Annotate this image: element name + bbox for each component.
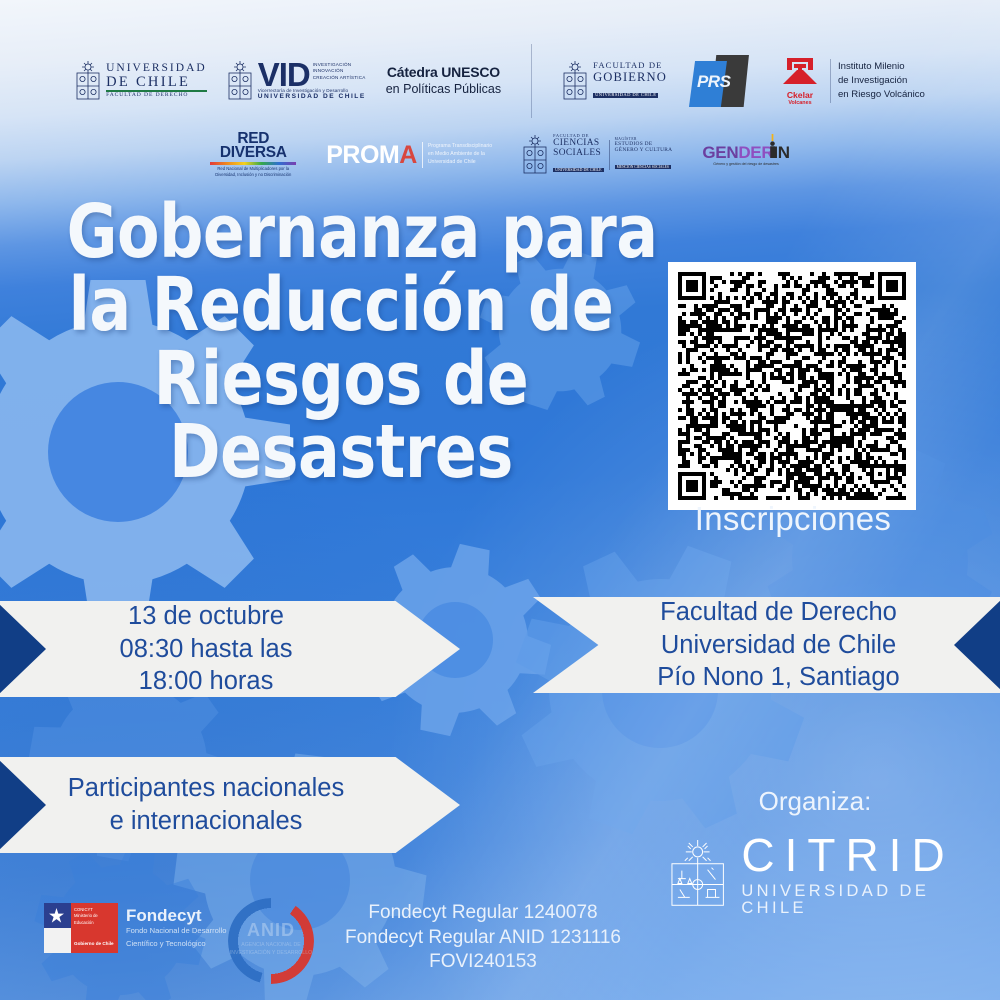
anid-ring-icon — [228, 898, 314, 984]
vid-side-text: INVESTIGACIÓN INNOVACIÓN CREACIÓN ARTÍST… — [313, 62, 366, 82]
person-icon — [769, 134, 776, 162]
proma-wordmark: PROMA — [326, 144, 417, 167]
proma-word-b: A — [399, 141, 417, 169]
fondecyt-text: Fondecyt Fondo Nacional de Desarrollo Ci… — [126, 907, 226, 949]
sponsor-logo-bar: UNIVERSIDAD DE CHILE FACULTAD DE DERECHO — [0, 0, 1000, 178]
fondecyt-sub-2: Científico y Tecnológico — [126, 939, 226, 949]
flag-gov-text: Gobierno de Chile — [74, 941, 114, 946]
csoc-right-text: MAGÍSTER ESTUDIOS DE GÉNERO Y CULTURA ME… — [615, 137, 673, 173]
anid-sub-1: AGENCIA NACIONAL DE — [228, 942, 314, 950]
ribbon-venue-line-2: Universidad de Chile — [657, 629, 899, 662]
organiza-label: Organiza: — [690, 786, 940, 817]
fondecyt-name: Fondecyt — [126, 907, 226, 924]
logo-genderin: GENDERIN Género y gestión del riesgo de … — [702, 144, 789, 166]
csoc-right-2: GÉNERO Y CULTURA — [615, 147, 673, 153]
logo-vid-uchile: VID INVESTIGACIÓN INNOVACIÓN CREACIÓN AR… — [227, 61, 366, 101]
qr-label: Inscripciones — [628, 500, 958, 538]
logo-text: VID INVESTIGACIÓN INNOVACIÓN CREACIÓN AR… — [258, 62, 366, 100]
logo-red-diversa: RED DIVERSA Red Nacional de Multiplicado… — [210, 132, 296, 178]
ckelar-name: Ckelar — [777, 91, 823, 100]
flag-ministry-text: CONICYT Ministerio de Educación — [74, 907, 118, 926]
ribbon-participants-line-2: e internacionales — [68, 805, 344, 838]
logo-universidad-de-chile-derecho: UNIVERSIDAD DE CHILE FACULTAD DE DERECHO — [75, 61, 207, 101]
ribbon-body: Facultad de Derecho Universidad de Chile… — [533, 597, 1000, 693]
flag-ministry-2: Ministerio de Educación — [74, 913, 118, 926]
gob-line-2: GOBIERNO — [593, 71, 667, 84]
logo-line-1: UNIVERSIDAD — [106, 63, 207, 75]
citrid-wordmark: CITRID UNIVERSIDAD DE CHILE — [741, 832, 1000, 916]
vid-side-3: CREACIÓN ARTÍSTICA — [313, 75, 366, 82]
reddiversa-sub-1: Red Nacional de Multiplicadores por la — [210, 166, 296, 171]
grant-line-3: FOVI240153 — [318, 950, 648, 975]
proma-text-2: en Medio Ambiente de la — [428, 151, 492, 159]
logo-divider — [830, 59, 831, 103]
title-line-4: Desastres — [67, 416, 616, 489]
csoc-line-4: UNIVERSIDAD DE CHILE — [553, 168, 603, 172]
ribbon-venue: Facultad de Derecho Universidad de Chile… — [533, 597, 1000, 693]
uchile-shield-icon — [562, 61, 588, 101]
rainbow-bar-icon — [210, 162, 296, 165]
grant-line-2: Fondecyt Regular ANID 1231116 — [318, 926, 648, 951]
uchile-shield-icon — [75, 61, 101, 101]
logo-catedra-unesco: Cátedra UNESCO en Políticas Públicas — [386, 64, 501, 97]
ribbon-text: Participantes nacionales e internacional… — [46, 772, 414, 837]
title-line-3: Riesgos de — [67, 343, 616, 416]
vid-sub-2: UNIVERSIDAD DE CHILE — [258, 93, 366, 100]
ribbon-venue-line-1: Facultad de Derecho — [657, 596, 899, 629]
ckelar-volcano-icon: Ckelar Volcanes — [777, 56, 823, 106]
gob-line-3: UNIVERSIDAD DE CHILE — [593, 93, 658, 98]
qr-code-icon[interactable] — [668, 262, 916, 510]
grant-codes: Fondecyt Regular 1240078 Fondecyt Regula… — [318, 901, 648, 975]
ribbon-date-line-3: 18:00 horas — [120, 665, 293, 698]
logo-anid: ANID AGENCIA NACIONAL DE INVESTIGACIÓN Y… — [228, 898, 314, 984]
logo-fondecyt: CONICYT Ministerio de Educación Gobierno… — [44, 903, 226, 953]
ribbon-body: Participantes nacionales e internacional… — [0, 757, 460, 853]
poster-title: Gobernanza para la Reducción de Riesgos … — [67, 196, 616, 489]
logo-prs: PRS — [687, 55, 757, 107]
uchile-shield-icon — [227, 61, 253, 101]
logo-text: FACULTAD DE GOBIERNO UNIVERSIDAD DE CHIL… — [593, 61, 667, 100]
citrid-logo: CITRID UNIVERSIDAD DE CHILE — [668, 832, 1000, 916]
ribbon-date: 13 de octubre 08:30 hasta las 18:00 hora… — [0, 601, 460, 697]
title-line-1: Gobernanza para — [67, 196, 616, 269]
reddiversa-line-2: DIVERSA — [210, 146, 296, 160]
genderin-sub: Género y gestión del riesgo de desastres — [702, 162, 789, 166]
genderin-wordmark: GENDERIN — [702, 144, 789, 161]
uchile-shield-icon — [668, 840, 727, 908]
anid-sub: AGENCIA NACIONAL DE INVESTIGACIÓN Y DESA… — [228, 942, 314, 958]
ckelar-text-1: Instituto Milenio — [838, 60, 925, 74]
ribbon-venue-line-3: Pío Nono 1, Santiago — [657, 661, 899, 694]
chile-flag-icon: CONICYT Ministerio de Educación Gobierno… — [44, 903, 118, 953]
uchile-shield-icon — [522, 135, 548, 175]
csoc-left-text: FACULTAD DE CIENCIAS SOCIALES UNIVERSIDA… — [553, 134, 603, 175]
star-icon — [49, 908, 64, 923]
ribbon-date-line-1: 13 de octubre — [120, 600, 293, 633]
logo-divider — [531, 44, 532, 118]
ribbon-participants: Participantes nacionales e internacional… — [0, 757, 460, 853]
reddiversa-sub-2: Diversidad, Inclusión y no Discriminació… — [210, 172, 296, 177]
title-line-2: la Reducción de — [67, 269, 616, 342]
ckelar-text-2: de Investigación — [838, 74, 925, 88]
proma-word-a: PROM — [326, 141, 399, 169]
flag-white — [44, 928, 71, 953]
proma-text: Programa Transdisciplinario en Medio Amb… — [428, 143, 492, 166]
grant-line-1: Fondecyt Regular 1240078 — [318, 901, 648, 926]
logo-divider — [609, 140, 610, 170]
logo-text: UNIVERSIDAD DE CHILE FACULTAD DE DERECHO — [106, 63, 207, 99]
logo-line-2: DE CHILE — [106, 75, 207, 90]
logo-ckelar-volcanes: Ckelar Volcanes Instituto Milenio de Inv… — [777, 56, 925, 106]
ribbon-text: 13 de octubre 08:30 hasta las 18:00 hora… — [98, 600, 363, 698]
sponsor-logo-row-2: RED DIVERSA Red Nacional de Multiplicado… — [0, 118, 1000, 178]
unesco-line-1: Cátedra UNESCO — [386, 64, 501, 82]
unesco-line-2: en Políticas Públicas — [386, 82, 501, 98]
ckelar-name-2: Volcanes — [777, 100, 823, 106]
csoc-right-3: MENCIÓN CIENCIAS SOCIALES — [615, 165, 671, 169]
ribbon-text: Facultad de Derecho Universidad de Chile… — [567, 596, 965, 694]
logo-facultad-ciencias-sociales: FACULTAD DE CIENCIAS SOCIALES UNIVERSIDA… — [522, 134, 672, 175]
csoc-line-3: SOCIALES — [553, 149, 603, 159]
genderin-1: GEN — [702, 143, 738, 162]
vid-wordmark: VID — [258, 62, 310, 88]
fondecyt-sub-1: Fondo Nacional de Desarrollo — [126, 926, 226, 936]
prs-wordmark: PRS — [697, 72, 730, 92]
ckelar-text: Instituto Milenio de Investigación en Ri… — [838, 60, 925, 102]
ckelar-text-3: en Riesgo Volcánico — [838, 88, 925, 102]
sponsor-logo-row-1: UNIVERSIDAD DE CHILE FACULTAD DE DERECHO — [0, 0, 1000, 118]
anid-sub-2: INVESTIGACIÓN Y DESARROLLO — [228, 950, 314, 958]
proma-text-1: Programa Transdisciplinario — [428, 143, 492, 151]
ribbon-participants-line-1: Participantes nacionales — [68, 772, 344, 805]
logo-proma: PROMA Programa Transdisciplinario en Med… — [326, 142, 492, 168]
citrid-subtitle: UNIVERSIDAD DE CHILE — [741, 883, 1000, 916]
logo-divider — [422, 142, 423, 168]
ribbon-body: 13 de octubre 08:30 hasta las 18:00 hora… — [0, 601, 460, 697]
citrid-name: CITRID — [741, 832, 1000, 878]
anid-name: ANID — [228, 920, 314, 941]
poster-root: UNIVERSIDAD DE CHILE FACULTAD DE DERECHO — [0, 0, 1000, 1000]
genderin-3: IN — [773, 143, 789, 162]
proma-text-3: Universidad de Chile — [428, 159, 492, 167]
logo-line-3: FACULTAD DE DERECHO — [106, 90, 207, 99]
logo-facultad-de-gobierno: FACULTAD DE GOBIERNO UNIVERSIDAD DE CHIL… — [562, 61, 667, 101]
ribbon-date-line-2: 08:30 hasta las — [120, 633, 293, 666]
